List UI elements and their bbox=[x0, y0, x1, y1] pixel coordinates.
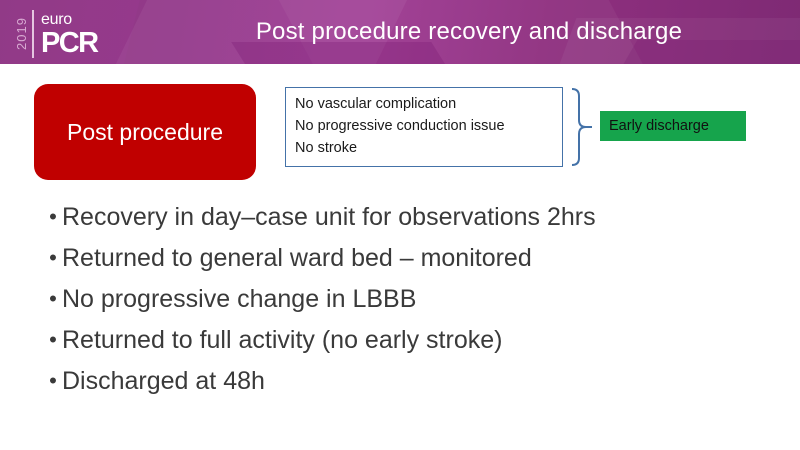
list-item-text: Returned to general ward bed – monitored bbox=[62, 241, 532, 275]
bullet-marker-icon: • bbox=[44, 241, 62, 275]
bullet-list: • Recovery in day–case unit for observat… bbox=[44, 200, 764, 405]
list-item: • Returned to general ward bed – monitor… bbox=[44, 241, 764, 282]
logo-year: 2019 bbox=[14, 9, 28, 59]
list-item-text: Discharged at 48h bbox=[62, 364, 265, 398]
logo-euro-text: euro bbox=[41, 12, 97, 28]
criteria-item: No progressive conduction issue bbox=[295, 115, 562, 137]
bullet-marker-icon: • bbox=[44, 282, 62, 316]
europcr-logo: 2019 euro PCR bbox=[14, 9, 97, 59]
outcome-box-early-discharge: Early discharge bbox=[600, 111, 746, 141]
stage-box-label: Post procedure bbox=[67, 119, 223, 146]
outcome-box-label: Early discharge bbox=[609, 118, 709, 134]
logo-pcr-text: PCR bbox=[41, 29, 97, 57]
bullet-marker-icon: • bbox=[44, 364, 62, 398]
bullet-marker-icon: • bbox=[44, 200, 62, 234]
right-brace-icon bbox=[570, 87, 592, 167]
criteria-box: No vascular complication No progressive … bbox=[285, 87, 563, 167]
list-item-text: Recovery in day–case unit for observatio… bbox=[62, 200, 596, 234]
logo-divider bbox=[32, 10, 34, 58]
list-item: • Discharged at 48h bbox=[44, 364, 764, 405]
page-title: Post procedure recovery and discharge bbox=[160, 0, 778, 64]
list-item-text: Returned to full activity (no early stro… bbox=[62, 323, 502, 357]
logo-wordmark: euro PCR bbox=[41, 9, 97, 59]
list-item: • No progressive change in LBBB bbox=[44, 282, 764, 323]
list-item-text: No progressive change in LBBB bbox=[62, 282, 416, 316]
bullet-marker-icon: • bbox=[44, 323, 62, 357]
list-item: • Recovery in day–case unit for observat… bbox=[44, 200, 764, 241]
stage-box-post-procedure: Post procedure bbox=[34, 84, 256, 180]
slide-header: 2019 euro PCR Post procedure recovery an… bbox=[0, 0, 800, 64]
criteria-item: No stroke bbox=[295, 137, 562, 159]
criteria-item: No vascular complication bbox=[295, 93, 562, 115]
list-item: • Returned to full activity (no early st… bbox=[44, 323, 764, 364]
